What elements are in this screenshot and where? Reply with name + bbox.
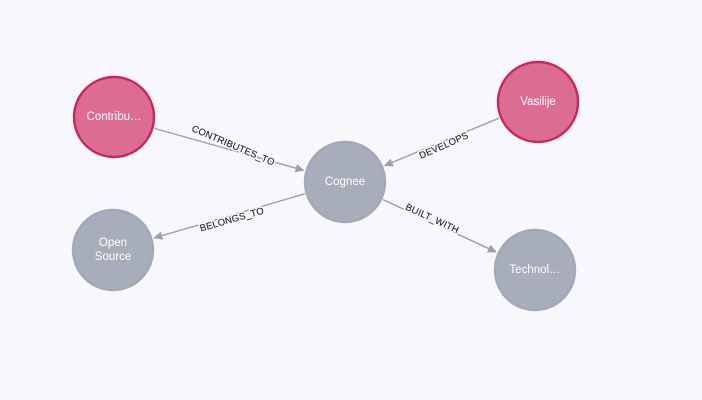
node-label-contributor: Contribu… <box>87 111 142 123</box>
graph-edge-belongs_to[interactable]: BELONGS_TOBELONGS_TO <box>153 194 304 240</box>
node-label-technology: Technol… <box>509 264 560 276</box>
graph-node-cognee[interactable]: Cognee <box>305 142 385 222</box>
node-label-open_source: Source <box>95 251 131 263</box>
graph-node-technology[interactable]: Technol… <box>495 230 575 310</box>
graph-canvas[interactable]: CONTRIBUTES_TOCONTRIBUTES_TODEVELOPSDEVE… <box>0 0 702 400</box>
graph-edge-develops[interactable]: DEVELOPSDEVELOPS <box>384 118 499 166</box>
graph-edge-contributes_to[interactable]: CONTRIBUTES_TOCONTRIBUTES_TO <box>154 124 304 173</box>
node-label-cognee: Cognee <box>325 176 365 188</box>
edge-label-contributes_to: CONTRIBUTES_TO <box>190 124 276 169</box>
graph-node-vasilije[interactable]: Vasilije <box>498 62 578 142</box>
node-label-vasilije: Vasilije <box>520 96 556 108</box>
edge-arrowhead-contributes_to <box>295 164 305 172</box>
nodes-layer: Contribu…VasilijeCogneeOpenSourceTechnol… <box>73 62 578 310</box>
edge-arrowhead-belongs_to <box>153 232 163 240</box>
graph-node-open_source[interactable]: OpenSource <box>73 210 153 290</box>
node-circle-open_source[interactable] <box>73 210 153 290</box>
graph-edge-built_with[interactable]: BUILT_WITHBUILT_WITH <box>383 200 497 253</box>
node-label-open_source: Open <box>99 237 127 249</box>
graph-node-contributor[interactable]: Contribu… <box>74 77 154 157</box>
edge-label-develops: DEVELOPS <box>418 130 471 162</box>
edge-label-belongs_to: BELONGS_TO <box>199 206 266 235</box>
edge-label-built_with: BUILT_WITH <box>403 202 460 236</box>
graph-visualization[interactable]: CONTRIBUTES_TOCONTRIBUTES_TODEVELOPSDEVE… <box>0 0 702 400</box>
